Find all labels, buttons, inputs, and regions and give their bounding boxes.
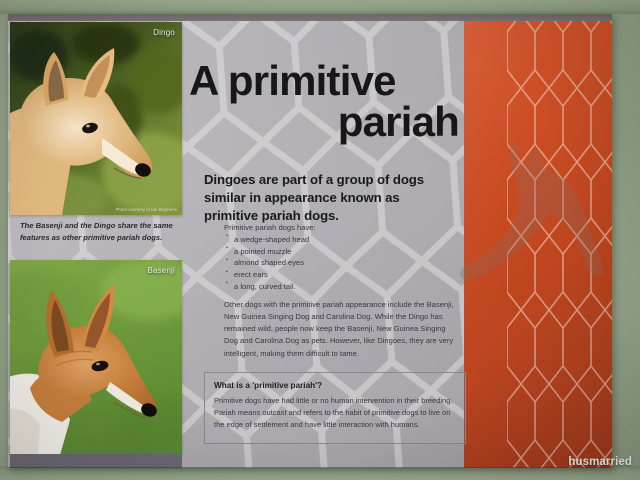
photo-label-dingo: Dingo [153,28,175,37]
features-lead: Primitive pariah dogs have: [224,222,460,234]
board-lower-strip [10,454,182,468]
features-block: Primitive pariah dogs have: a wedge-shap… [224,222,460,293]
list-item: a long, curved tail. [234,281,460,293]
information-board: Dingo Photo courtesy of Ian Stephens The… [8,14,612,468]
subheading: Dingoes are part of a group of dogs simi… [204,171,456,224]
board-bottom-edge [8,467,612,468]
body-paragraph: Other dogs with the primitive pariah app… [224,299,460,360]
page-title: A primitive pariah [189,60,459,142]
fact-box-body: Primitive dogs have had little or no hum… [214,395,456,431]
photo-caption: The Basenji and the Dingo share the same… [20,220,182,244]
list-item: a wedge-shaped head [234,234,460,246]
headline-line-1: A primitive [189,57,396,104]
chicken-wire-mesh-orange-icon [507,14,612,468]
list-item: almond shaped eyes [234,257,460,269]
photo-dingo: Dingo Photo courtesy of Ian Stephens [10,22,182,215]
watermark: husmarried [568,456,632,468]
photo-basenji: Basenji [10,260,182,455]
wall-bottom-band [0,466,640,480]
features-list: a wedge-shaped head a pointed muzzle alm… [224,234,460,293]
dog-silhouette-icon [458,132,608,297]
list-item: erect ears [234,269,460,281]
board-top-edge [8,14,612,21]
photo-credit-dingo: Photo courtesy of Ian Stephens [116,207,177,212]
orange-panel [464,14,612,468]
photo-label-basenji: Basenji [147,266,175,275]
fact-box: What is a 'primitive pariah'? Primitive … [204,372,466,444]
screenshot-root: Dingo Photo courtesy of Ian Stephens The… [0,0,640,480]
list-item: a pointed muzzle [234,246,460,258]
headline-line-2: pariah [189,101,459,142]
fact-box-title: What is a 'primitive pariah'? [214,381,456,390]
wall-top-band [0,0,640,14]
